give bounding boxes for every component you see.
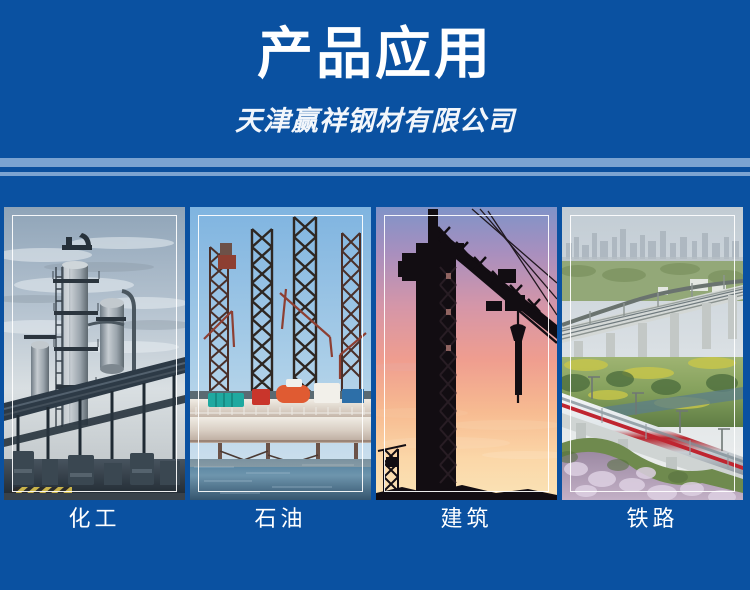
gallery-panel-construction[interactable] [376, 207, 557, 500]
gallery-captions: 化工 石油 建筑 铁路 [4, 503, 746, 543]
gallery-panel-railway[interactable] [562, 207, 743, 500]
divider-band-lower [0, 172, 750, 176]
product-application-banner: 产品应用 天津赢祥钢材有限公司 [0, 0, 750, 590]
page-title: 产品应用 [0, 22, 750, 88]
divider-band-upper [0, 158, 750, 167]
caption-construction: 建筑 [376, 503, 557, 543]
company-name: 天津赢祥钢材有限公司 [0, 104, 750, 140]
oil-rig-image [190, 207, 371, 500]
caption-chemical: 化工 [4, 503, 185, 543]
gallery-panel-petroleum[interactable] [190, 207, 371, 500]
tower-crane-image [376, 207, 557, 500]
railway-viaduct-image [562, 207, 743, 500]
chemical-plant-image [4, 207, 185, 500]
banner-header: 产品应用 天津赢祥钢材有限公司 [0, 0, 750, 158]
caption-railway: 铁路 [562, 503, 743, 543]
gallery-panel-chemical[interactable] [4, 207, 185, 500]
application-gallery [4, 207, 746, 500]
caption-petroleum: 石油 [190, 503, 371, 543]
